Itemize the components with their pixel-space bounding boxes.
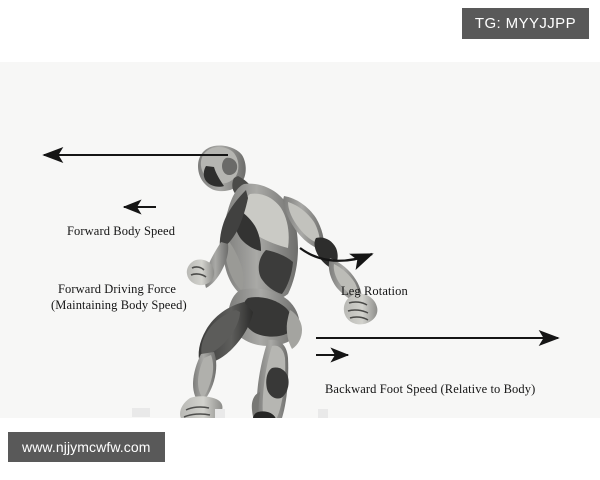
label-forward-body-speed: Forward Body Speed [67,224,175,239]
scan-artifact [318,409,328,418]
figure-panel: Forward Body Speed Forward Driving Force… [0,62,600,418]
label-forward-driving-force-line1: Forward Driving Force [58,282,176,297]
figure-illustration [0,62,600,418]
label-forward-driving-force-line2: (Maintaining Body Speed) [51,298,187,313]
runner-figure [180,145,377,418]
label-backward-foot-speed-body: Backward Foot Speed (Relative to Body) [325,382,535,397]
image-root: Forward Body Speed Forward Driving Force… [0,0,600,480]
scan-artifact [132,408,150,417]
watermark-url-badge: www.njjymcwfw.com [8,432,165,462]
scan-artifact [215,409,225,418]
label-leg-rotation: Leg Rotation [341,284,408,299]
tag-badge: TG: MYYJJPP [462,8,589,39]
